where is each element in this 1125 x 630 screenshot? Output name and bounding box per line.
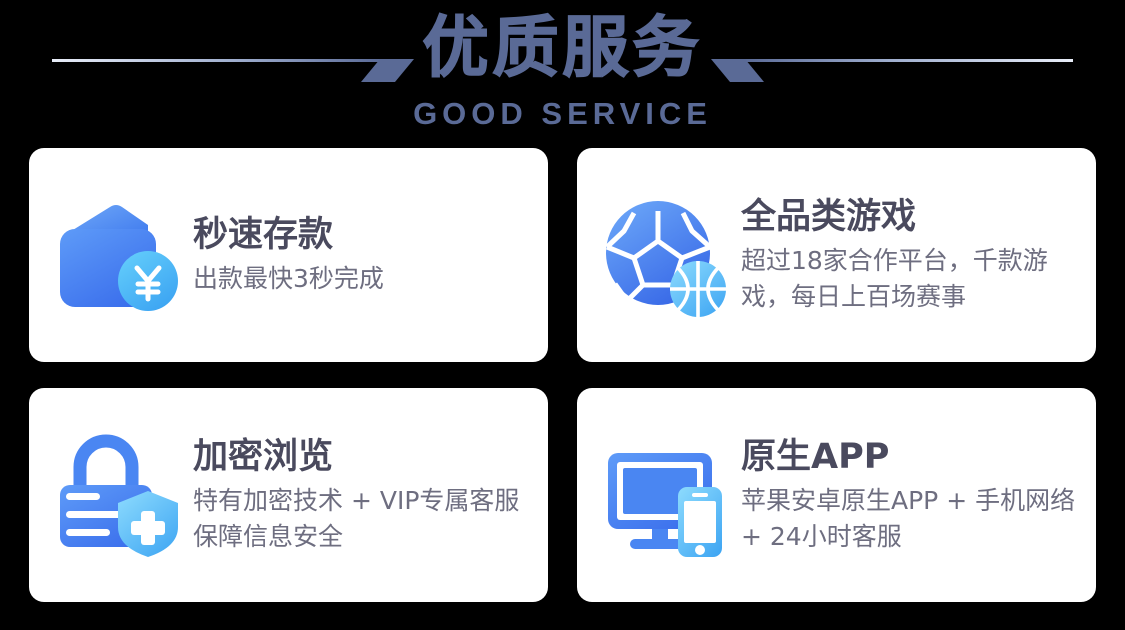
feature-card-grid: 秒速存款 出款最快3秒完成	[29, 148, 1096, 602]
wallet-yen-icon	[43, 185, 193, 325]
card-title: 全品类游戏	[741, 195, 1080, 239]
card-text: 加密浏览 特有加密技术 + VIP专属客服保障信息安全	[193, 435, 548, 555]
feature-card-encrypted-browsing[interactable]: 加密浏览 特有加密技术 + VIP专属客服保障信息安全	[29, 388, 548, 602]
card-title: 秒速存款	[193, 213, 532, 257]
card-description: 出款最快3秒完成	[193, 261, 532, 297]
monitor-phone-icon	[591, 425, 741, 565]
feature-card-all-games[interactable]: 全品类游戏 超过18家合作平台，千款游戏，每日上百场赛事	[577, 148, 1096, 362]
card-text: 秒速存款 出款最快3秒完成	[193, 213, 548, 297]
feature-card-instant-deposit[interactable]: 秒速存款 出款最快3秒完成	[29, 148, 548, 362]
card-description: 苹果安卓原生APP + 手机网络 + 24小时客服	[741, 483, 1080, 555]
feature-card-native-app[interactable]: 原生APP 苹果安卓原生APP + 手机网络 + 24小时客服	[577, 388, 1096, 602]
card-title: 原生APP	[741, 435, 1080, 479]
page-header: 优质服务 GOOD SERVICE	[0, 0, 1125, 140]
card-description: 特有加密技术 + VIP专属客服保障信息安全	[193, 483, 532, 555]
card-title: 加密浏览	[193, 435, 532, 479]
card-text: 全品类游戏 超过18家合作平台，千款游戏，每日上百场赛事	[741, 195, 1096, 315]
lock-shield-icon	[43, 425, 193, 565]
card-description: 超过18家合作平台，千款游戏，每日上百场赛事	[741, 243, 1080, 315]
page-subtitle: GOOD SERVICE	[0, 96, 1125, 132]
card-text: 原生APP 苹果安卓原生APP + 手机网络 + 24小时客服	[741, 435, 1096, 555]
soccer-basketball-icon	[591, 185, 741, 325]
page-title: 优质服务	[0, 8, 1125, 88]
